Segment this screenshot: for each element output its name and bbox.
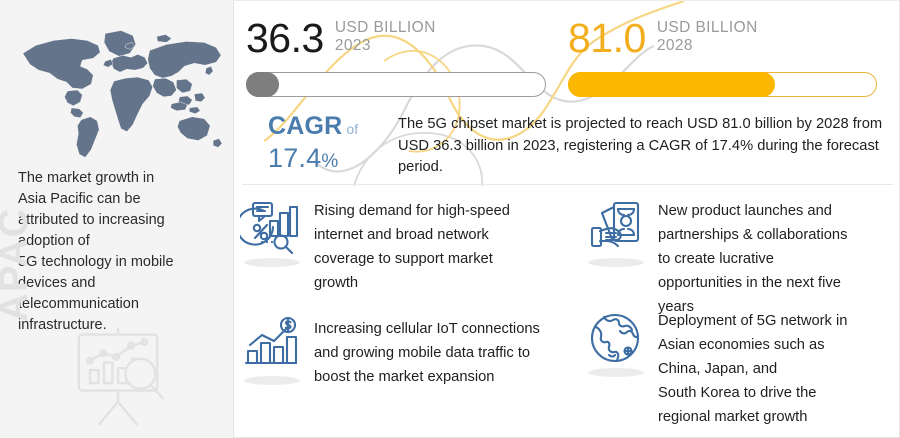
icon-shadow [588,258,644,267]
bullet-item: New product launches and partnerships & … [584,197,896,319]
left-description: The market growth in Asia Pacific can be… [18,168,218,336]
stat-2028-unit: USD BILLION [657,19,758,36]
growth-bar-dollar-icon [240,315,306,387]
chart-percent-search-icon [240,197,306,269]
left-panel: The market growth in Asia Pacific can be… [0,0,233,438]
progress-bar-2023 [246,72,546,97]
bullet-item: Deployment of 5G network in Asian econom… [584,307,896,429]
stat-2023-head: 36.3 USD BILLION 2023 [246,15,558,63]
cagr-block: CAGRof 17.4% [268,113,418,177]
stat-2028-unit-block: USD BILLION 2028 [657,15,758,55]
bullet-item: Rising demand for high-speed internet an… [240,197,570,295]
cagr-description-row: CAGRof 17.4% The 5G chipset market is pr… [234,109,900,184]
stat-2028-value: 81.0 [568,15,646,61]
world-map-icon [8,14,226,164]
stat-2023-year: 2023 [335,37,436,55]
cagr-value-line: 17.4% [268,143,418,177]
cagr-percent-sign: % [321,151,338,172]
icon-shadow [588,368,644,377]
stat-2023-unit: USD BILLION [335,19,436,36]
bullet-text: Increasing cellular IoT connections and … [314,315,540,389]
cagr-label: CAGR [268,112,342,140]
bullet-text: Deployment of 5G network in Asian econom… [658,307,847,429]
stat-2028-year: 2028 [657,37,758,55]
stat-2028-head: 81.0 USD BILLION 2028 [568,15,880,63]
hand-holding-money-icon [584,197,650,269]
progress-bar-2023-fill [246,72,279,97]
stat-2023-value: 36.3 [246,15,324,61]
section-divider [242,184,893,185]
cagr-of: of [346,121,358,137]
icon-shadow [244,376,300,385]
icon-shadow [244,258,300,267]
bullets-grid: Rising demand for high-speed internet an… [234,189,900,437]
progress-bar-2028 [568,72,877,97]
bullet-text: Rising demand for high-speed internet an… [314,197,510,295]
stat-2023: 36.3 USD BILLION 2023 [246,15,558,97]
presentation-chart-magnifier-icon [62,325,174,430]
infographic-root: The market growth in Asia Pacific can be… [0,0,900,438]
stat-2028: 81.0 USD BILLION 2028 [568,15,880,97]
globe-icon [584,307,650,379]
right-panel: 36.3 USD BILLION 2023 81.0 USD BILLION 2… [233,0,900,438]
market-description: The 5G chipset market is projected to re… [398,114,885,179]
cagr-value: 17.4 [268,143,321,173]
cagr-label-line: CAGRof [268,113,418,143]
stats-row: 36.3 USD BILLION 2023 81.0 USD BILLION 2… [234,1,900,109]
bullet-text: New product launches and partnerships & … [658,197,847,319]
stat-2023-unit-block: USD BILLION 2023 [335,15,436,55]
bullet-item: Increasing cellular IoT connections and … [240,315,570,389]
progress-bar-2028-fill [568,72,775,97]
